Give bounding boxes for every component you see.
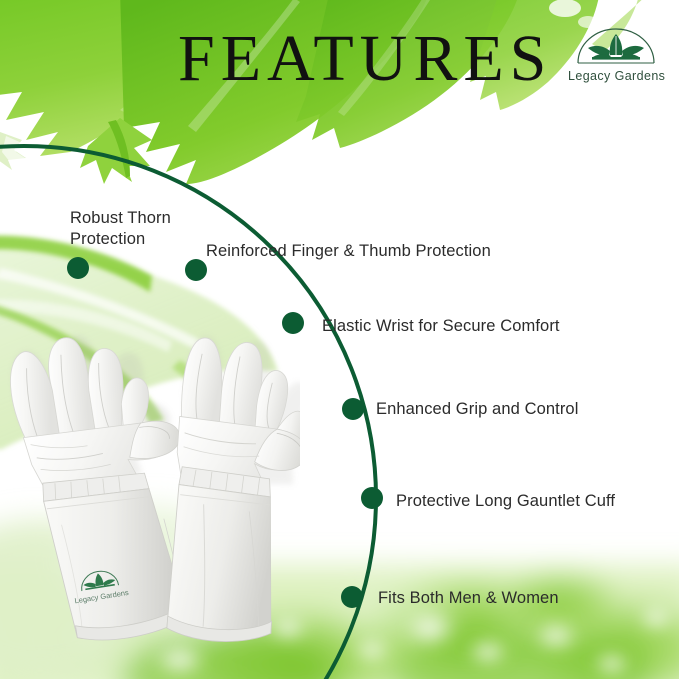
feature-label-1: Robust Thorn Protection bbox=[70, 208, 171, 250]
brand-logo: Legacy Gardens bbox=[568, 27, 664, 89]
feature-label-3: Elastic Wrist for Secure Comfort bbox=[322, 316, 560, 337]
brand-name: Legacy Gardens bbox=[568, 67, 664, 85]
page-title: FEATURES bbox=[178, 23, 538, 95]
feature-dot-6[interactable] bbox=[341, 586, 363, 608]
feature-dot-1[interactable] bbox=[67, 257, 89, 279]
feature-dot-3[interactable] bbox=[282, 312, 304, 334]
feature-dot-4[interactable] bbox=[342, 398, 364, 420]
feature-dot-2[interactable] bbox=[185, 259, 207, 281]
product-image-gloves: Legacy Gardens bbox=[0, 330, 300, 679]
arch-leaf-emblem-icon bbox=[568, 27, 664, 67]
glove-right bbox=[164, 335, 300, 647]
feature-label-2: Reinforced Finger & Thumb Protection bbox=[206, 241, 491, 262]
feature-label-4: Enhanced Grip and Control bbox=[376, 399, 578, 420]
feature-label-5: Protective Long Gauntlet Cuff bbox=[396, 491, 615, 512]
feature-label-6: Fits Both Men & Women bbox=[378, 588, 559, 609]
feature-dot-5[interactable] bbox=[361, 487, 383, 509]
infographic-canvas: FEATURES Legacy Gardens bbox=[0, 0, 679, 679]
